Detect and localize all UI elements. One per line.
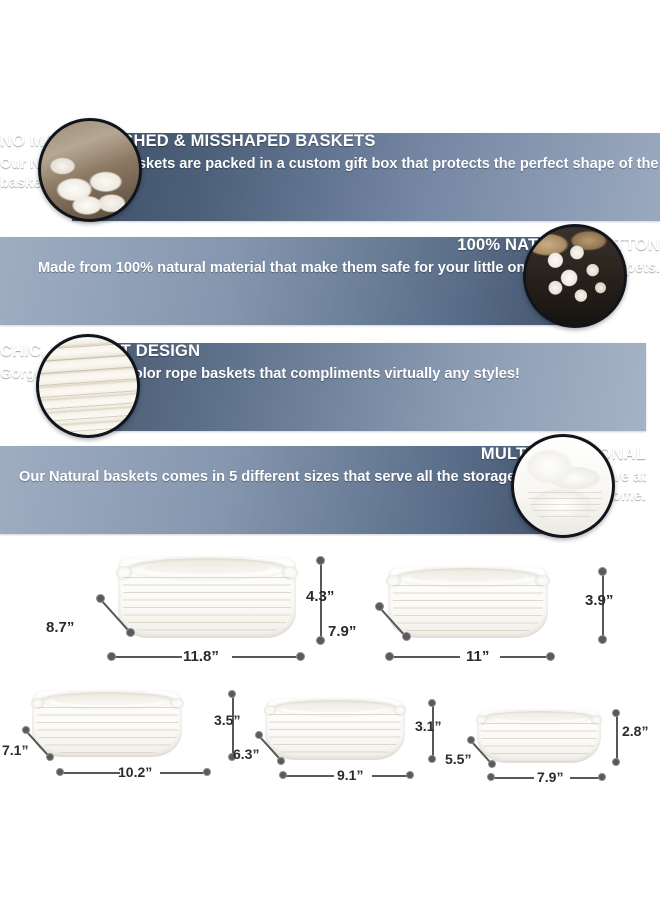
dim-dot	[546, 652, 555, 661]
dim-dot	[228, 690, 236, 698]
dim-dot	[612, 758, 620, 766]
dim-label-width-large: 11”	[466, 648, 489, 665]
dim-dot	[428, 755, 436, 763]
basket-rim-inner	[411, 571, 526, 582]
dim-line-width-xl-b	[232, 656, 300, 658]
dim-label-depth-xs: 5.5”	[445, 751, 471, 767]
dim-line-width-large	[390, 656, 460, 658]
dim-dot	[375, 602, 384, 611]
dim-dot	[316, 636, 325, 645]
dim-dot	[612, 709, 620, 717]
dim-dot	[428, 699, 436, 707]
dim-dot	[467, 736, 475, 744]
dim-label-height-small: 3.1”	[415, 718, 441, 734]
dim-label-width-medium: 10.2”	[118, 764, 152, 780]
stacked-baskets-on-shelf-photo	[38, 118, 142, 222]
dim-label-width-small: 9.1”	[337, 767, 363, 783]
dim-dot	[96, 594, 105, 603]
dim-label-width-xs: 7.9”	[537, 769, 563, 785]
dim-dot	[598, 773, 606, 781]
dim-label-depth-xl: 8.7”	[46, 619, 74, 636]
basket-rim-inner	[53, 695, 160, 705]
dim-dot	[598, 567, 607, 576]
dim-dot	[255, 731, 263, 739]
dim-dot	[316, 556, 325, 565]
cotton-bolls-photo	[523, 224, 627, 328]
dim-dot	[107, 652, 116, 661]
basket-rim-inner	[285, 703, 385, 712]
basket-rope-coils	[123, 577, 290, 633]
rope-texture-closeup-photo	[36, 334, 140, 438]
dim-dot	[488, 760, 496, 768]
basket-xs-illustration	[477, 709, 601, 763]
dim-label-height-xs: 2.8”	[622, 723, 648, 739]
dim-dot	[203, 768, 211, 776]
dim-label-height-xl: 4.3”	[306, 588, 334, 605]
dim-dot	[56, 768, 64, 776]
basket-rope-coils	[37, 707, 178, 753]
basket-rope-coils	[481, 723, 598, 760]
dim-line-width-xs	[492, 777, 534, 779]
dim-line-width-small	[284, 775, 334, 777]
basket-large-illustration	[388, 566, 548, 638]
basket-rim-inner	[143, 562, 271, 575]
dim-dot	[487, 773, 495, 781]
basket-medium-illustration	[32, 690, 182, 757]
product-infographic: NO MORE SMUSHED & MISSHAPED BASKETS Our …	[0, 0, 660, 900]
basket-xl-illustration	[118, 556, 296, 638]
basket-small-illustration	[265, 698, 405, 760]
dim-dot	[402, 632, 411, 641]
dim-label-height-large: 3.9”	[585, 592, 613, 609]
dim-dot	[385, 652, 394, 661]
basket-rope-coils	[393, 585, 543, 634]
dim-line-width-medium-b	[160, 772, 206, 774]
dim-label-depth-large: 7.9”	[328, 623, 356, 640]
dim-label-height-medium: 3.5”	[214, 712, 240, 728]
dim-label-depth-medium: 7.1”	[2, 742, 28, 758]
basket-rope-coils	[269, 714, 401, 756]
dim-dot	[598, 635, 607, 644]
dim-dot	[296, 652, 305, 661]
dim-dot	[277, 757, 285, 765]
nested-baskets-photo	[511, 434, 615, 538]
dim-dot	[22, 726, 30, 734]
basket-rim-inner	[495, 713, 583, 721]
dim-line-width-large-b	[500, 656, 550, 658]
dim-line-height-xs	[616, 714, 618, 762]
dim-dot	[279, 771, 287, 779]
dim-dot	[406, 771, 414, 779]
dim-label-depth-small: 6.3”	[233, 746, 259, 762]
dim-line-width-small-b	[372, 775, 410, 777]
dim-label-width-xl: 11.8”	[183, 648, 219, 665]
dim-dot	[46, 753, 54, 761]
dim-dot	[126, 628, 135, 637]
dim-line-width-medium	[60, 772, 120, 774]
dim-line-width-xl	[112, 656, 182, 658]
